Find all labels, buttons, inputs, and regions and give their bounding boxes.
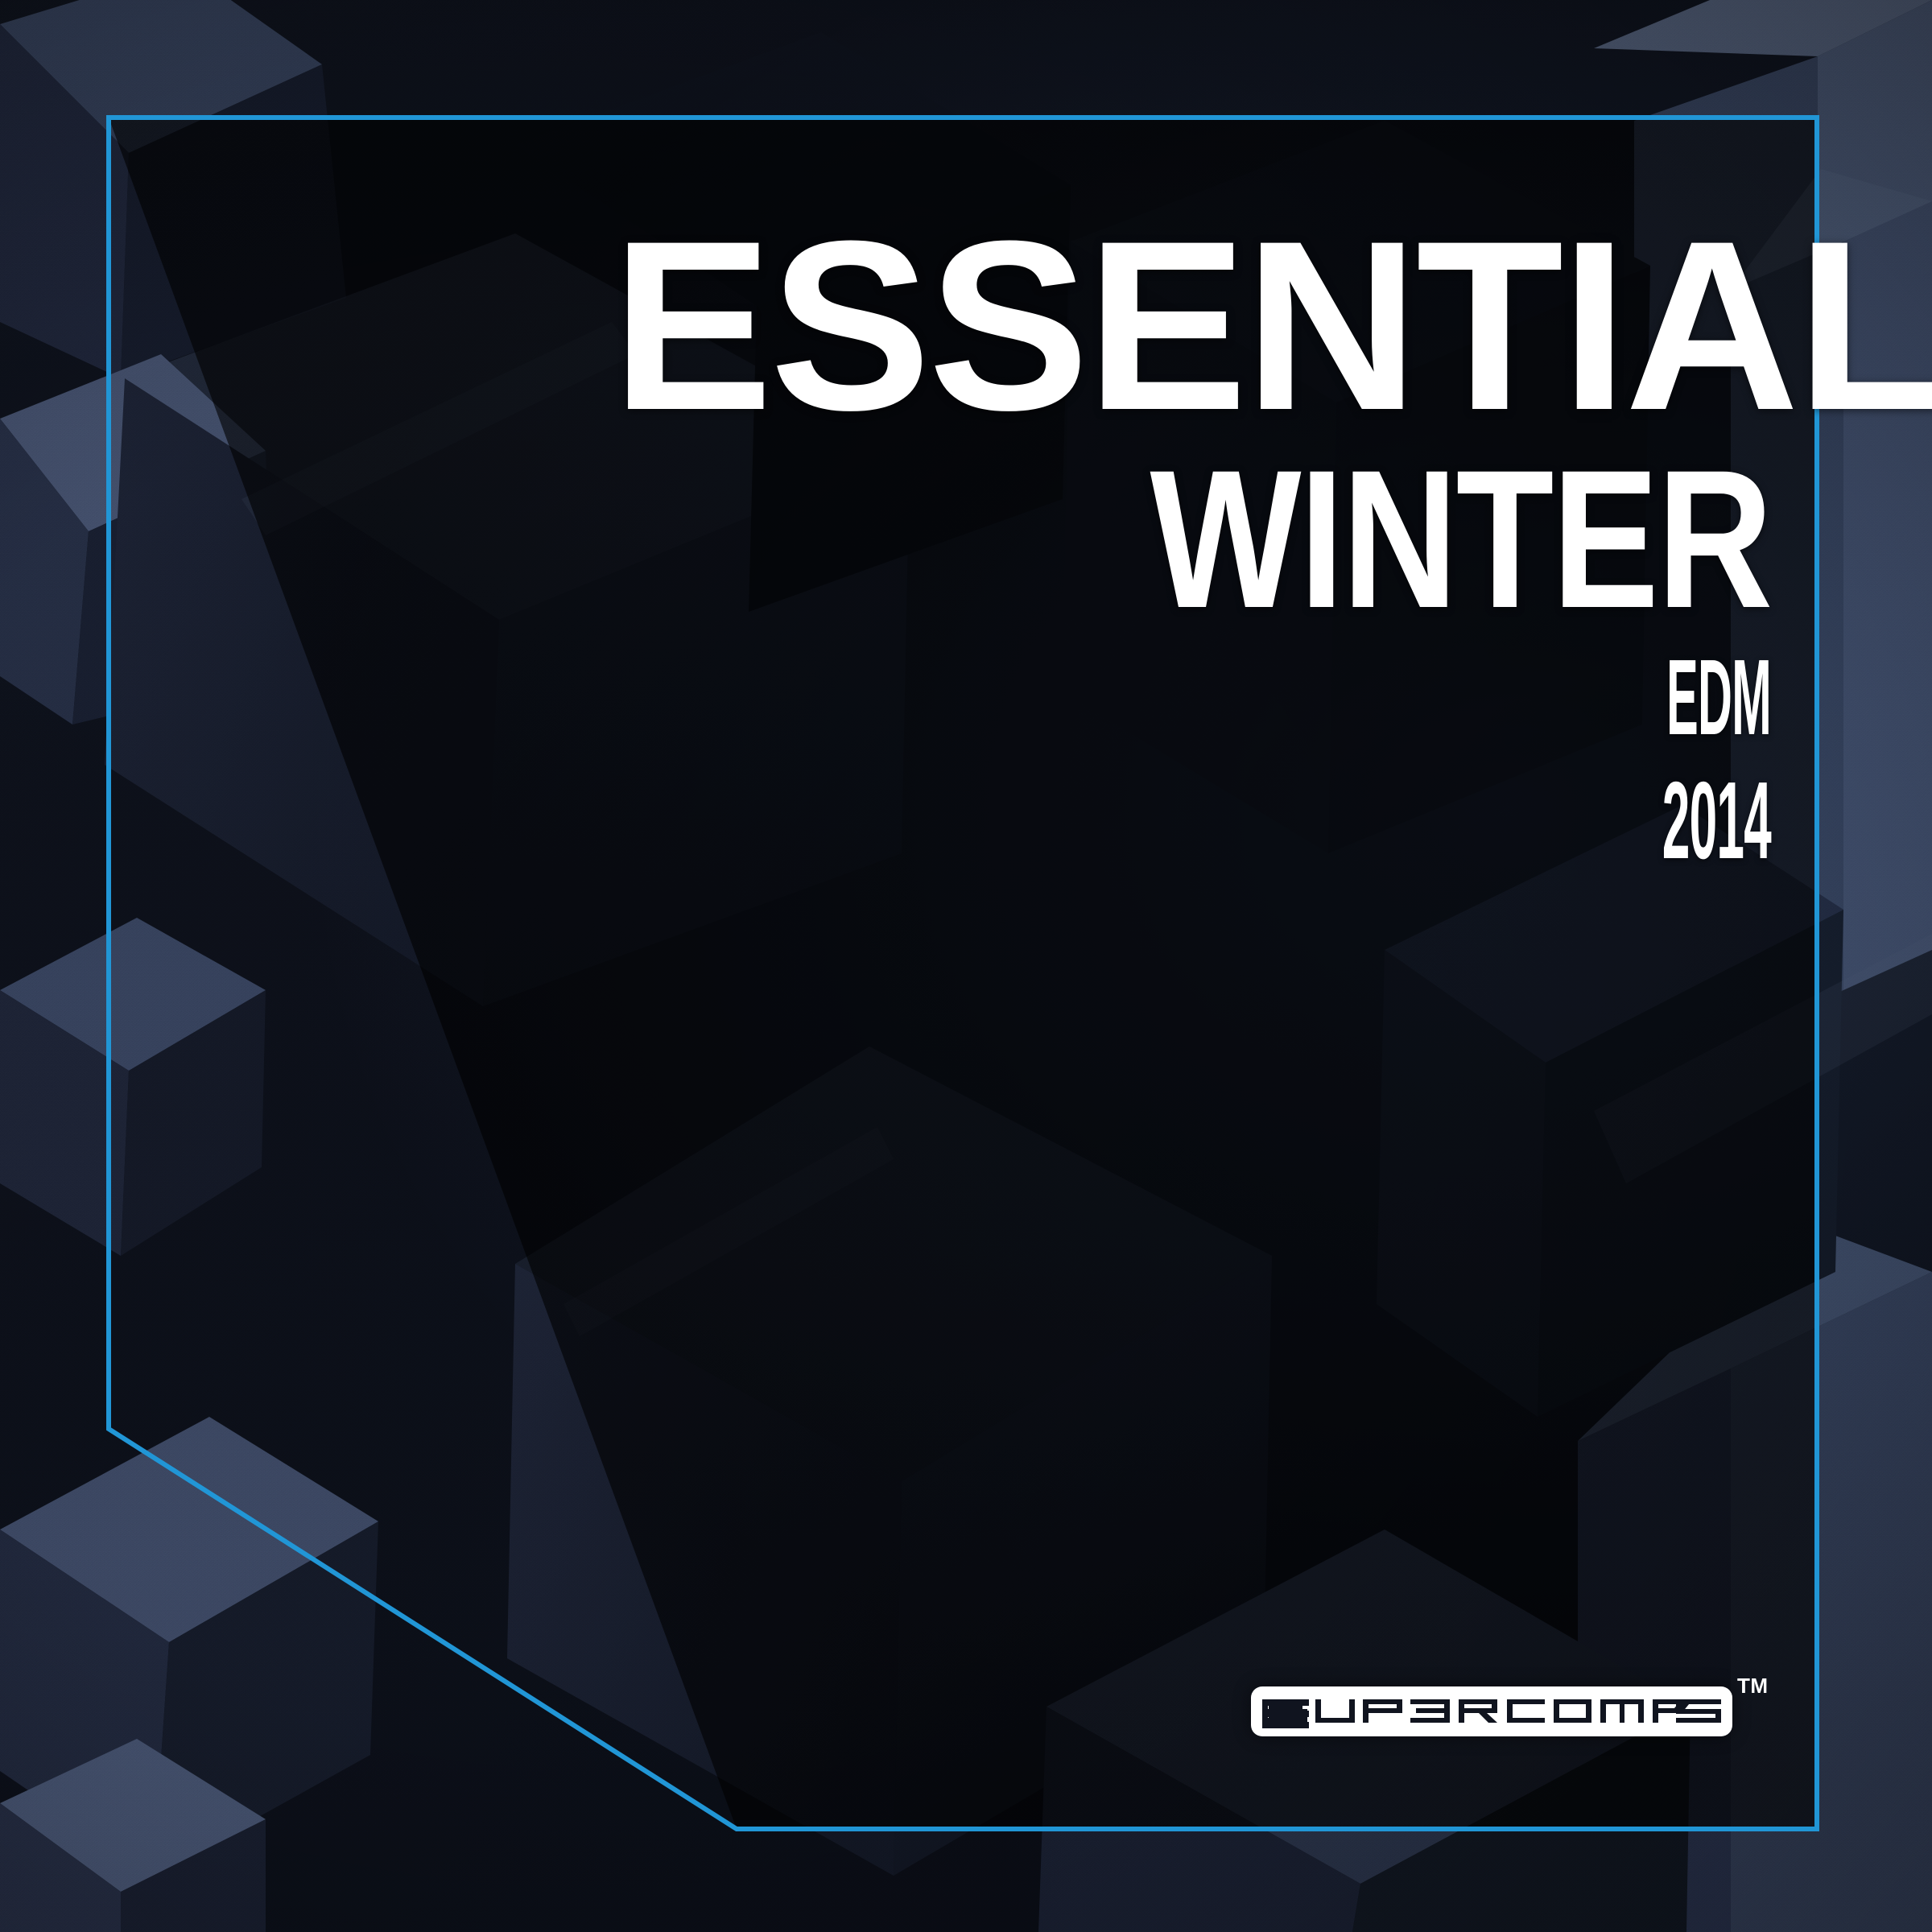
cube-scene: [0, 0, 1932, 1932]
label-logo: TM: [1251, 1686, 1732, 1736]
album-cover: ESSENTIAL WINTER EDM 2014: [0, 0, 1932, 1932]
supercomps-wordmark-icon: [1251, 1686, 1732, 1736]
trademark-symbol: TM: [1737, 1675, 1769, 1696]
background-artwork: [0, 0, 1932, 1932]
